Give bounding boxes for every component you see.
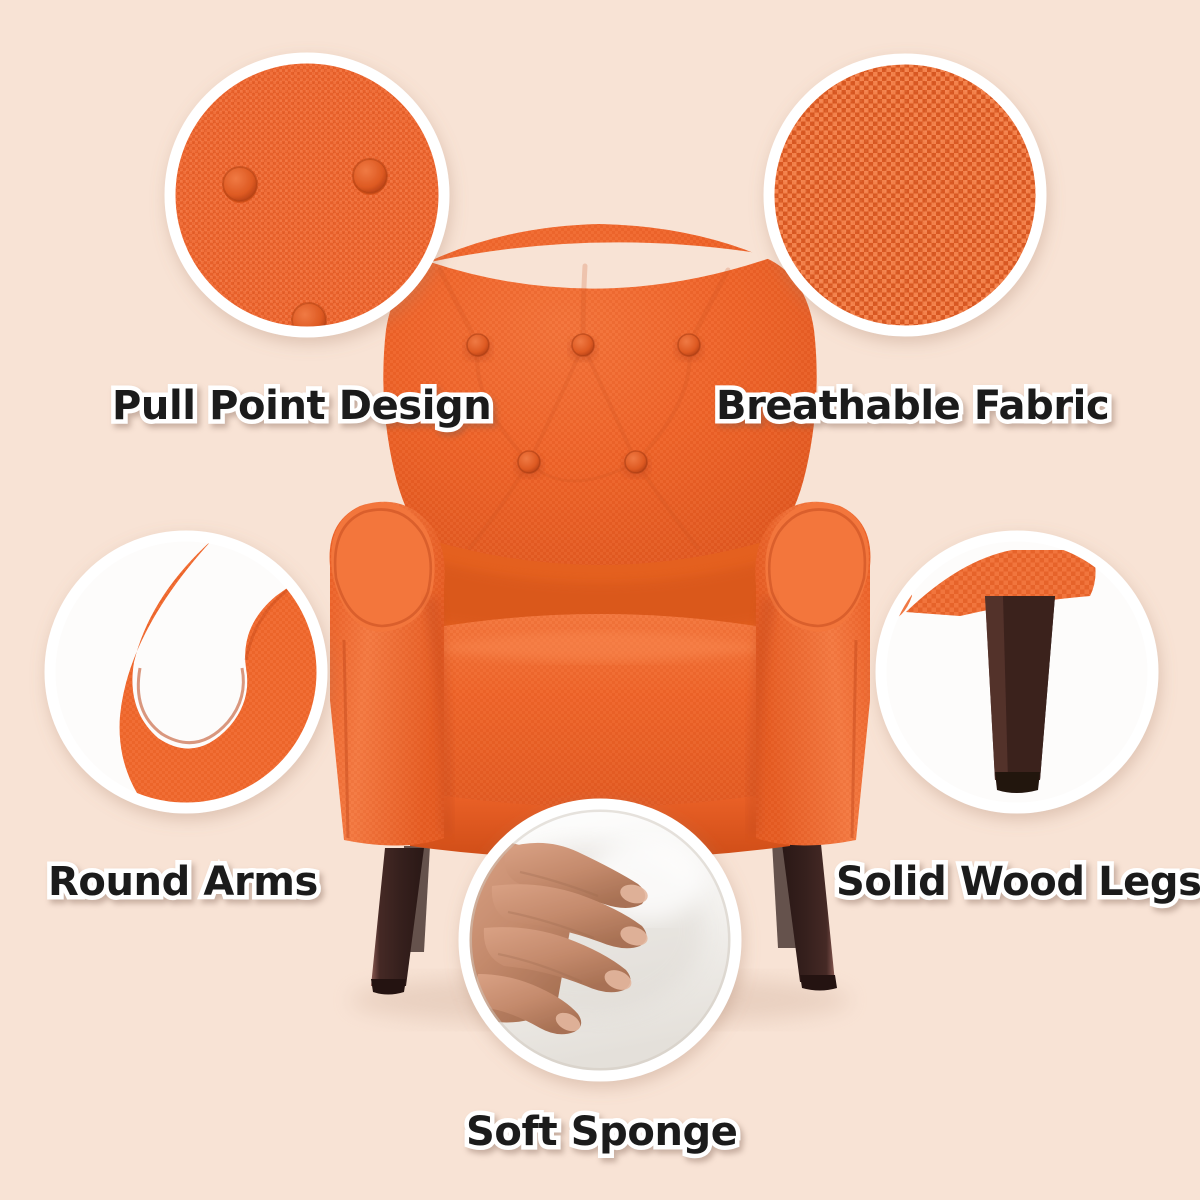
tufting-button [465,334,491,360]
leg-front-right-foot [800,975,837,991]
feature-label-pull-point-design: Pull Point Design [112,386,491,426]
feature-label-soft-sponge: Soft Sponge [466,1112,738,1152]
callout-wood-leg-foot [995,772,1040,793]
callout-solid-wood-legs [876,531,1158,813]
feature-label-round-arms: Round Arms [48,862,318,902]
tufting-button [516,451,542,477]
callout-soft-sponge [459,799,741,1081]
tufting-button [623,451,649,477]
tufting-button [676,334,702,360]
arm-left [330,502,452,846]
feature-label-solid-wood-legs: Solid Wood Legs [836,862,1200,902]
callout-pull-point-design [165,53,449,337]
tufting-button [570,334,596,360]
leg-front-left-foot [371,979,406,995]
feature-label-breathable-fabric: Breathable Fabric [716,386,1109,426]
infographic-canvas: Pull Point Design Breathable Fabric Roun… [0,0,1200,1200]
arm-right [748,502,870,846]
product-scene [0,0,1200,1200]
callout-breathable-fabric [764,54,1046,336]
